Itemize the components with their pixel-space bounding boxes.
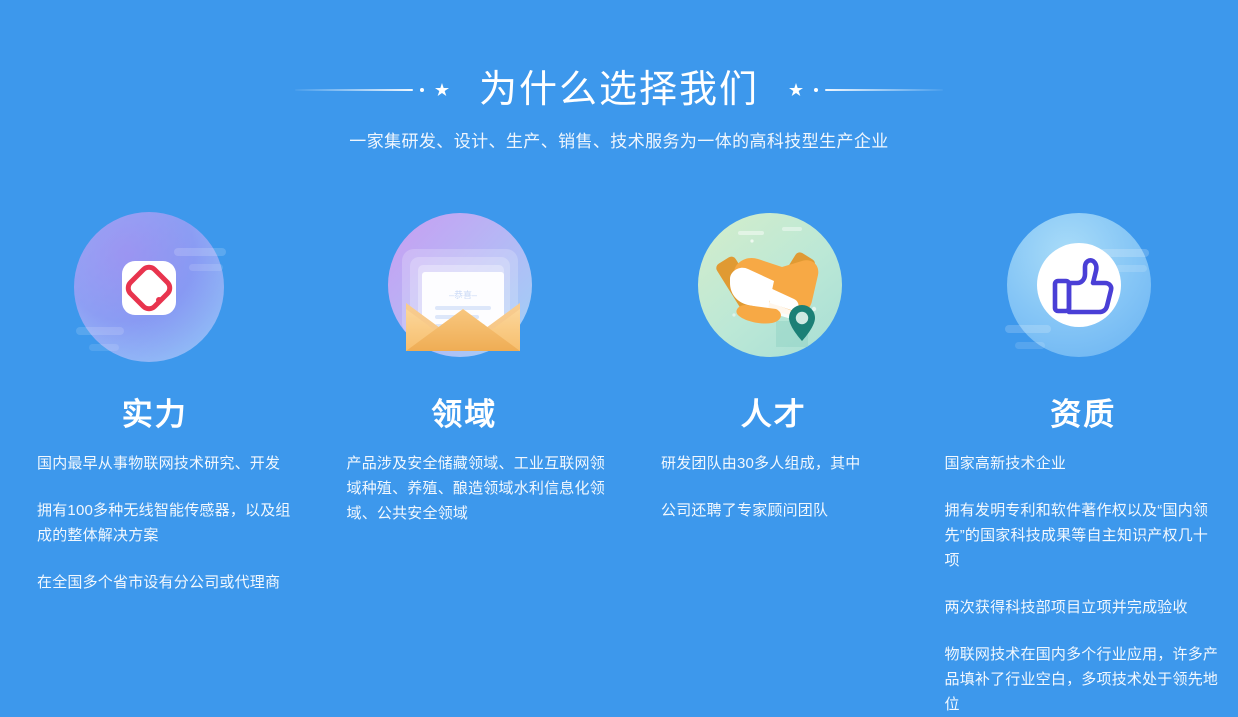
feature-paragraph: 拥有100多种无线智能传感器，以及组成的整体解决方案 [37,498,294,548]
column-title-fields: 领域 [431,395,497,435]
feature-column-strength: 实力 国内最早从事物联网技术研究、开发 拥有100多种无线智能传感器，以及组成的… [0,205,310,717]
deco-star-right [789,83,803,97]
why-choose-us-section: 为什么选择我们 一家集研发、设计、生产、销售、技术服务为一体的高科技型生产企业 [0,0,1238,698]
page-subtitle: 一家集研发、设计、生产、销售、技术服务为一体的高科技型生产企业 [0,129,1238,155]
feature-paragraph: 公司还聘了专家顾问团队 [661,498,913,523]
deco-dot-right [814,88,818,92]
deco-dot-left [420,88,424,92]
feature-paragraph: 拥有发明专利和软件著作权以及“国内领先”的国家科技成果等自主知识产权几十项 [945,498,1223,573]
title-row: 为什么选择我们 [0,64,1238,116]
svg-text:–恭喜–: –恭喜– [449,289,477,300]
envelope-letter-icon: –恭喜– [380,205,548,373]
star-decoration-right-icon [785,80,943,100]
thumbs-up-icon [999,205,1167,373]
feature-paragraph: 在全国多个省市设有分公司或代理商 [37,570,294,595]
star-decoration-left-icon [295,80,453,100]
feature-paragraph: 国内最早从事物联网技术研究、开发 [37,451,294,476]
diamond-badge-icon [71,205,239,373]
column-title-qualification: 资质 [1050,395,1116,435]
column-title-talent: 人才 [741,395,807,435]
deco-line-right [825,89,943,91]
column-body-qualification: 国家高新技术企业 拥有发明专利和软件著作权以及“国内领先”的国家科技成果等自主知… [929,451,1238,717]
deco-line-left [295,89,413,91]
feature-column-fields: –恭喜– 领域 产品涉及安全储藏领域、工业互联网领域种殖、养殖、酿造领域水利信息… [310,205,620,717]
deco-star-left [435,83,449,97]
feature-paragraph: 产品涉及安全储藏领域、工业互联网领域种殖、养殖、酿造领域水利信息化领域、公共安全… [347,451,606,526]
feature-paragraph: 两次获得科技部项目立项并完成验收 [945,595,1223,620]
feature-columns: 实力 国内最早从事物联网技术研究、开发 拥有100多种无线智能传感器，以及组成的… [0,205,1238,717]
column-body-strength: 国内最早从事物联网技术研究、开发 拥有100多种无线智能传感器，以及组成的整体解… [0,451,310,595]
handshake-icon [690,205,858,373]
feature-column-qualification: 资质 国家高新技术企业 拥有发明专利和软件著作权以及“国内领先”的国家科技成果等… [929,205,1238,717]
feature-paragraph: 物联网技术在国内多个行业应用，许多产品填补了行业空白，多项技术处于领先地位 [945,642,1223,717]
feature-paragraph: 研发团队由30多人组成，其中 [661,451,913,476]
column-body-fields: 产品涉及安全储藏领域、工业互联网领域种殖、养殖、酿造领域水利信息化领域、公共安全… [310,451,620,526]
feature-column-talent: 人才 研发团队由30多人组成，其中 公司还聘了专家顾问团队 [619,205,929,717]
page-title: 为什么选择我们 [479,66,759,114]
feature-paragraph: 国家高新技术企业 [945,451,1223,476]
column-title-strength: 实力 [122,395,188,435]
column-body-talent: 研发团队由30多人组成，其中 公司还聘了专家顾问团队 [619,451,929,523]
